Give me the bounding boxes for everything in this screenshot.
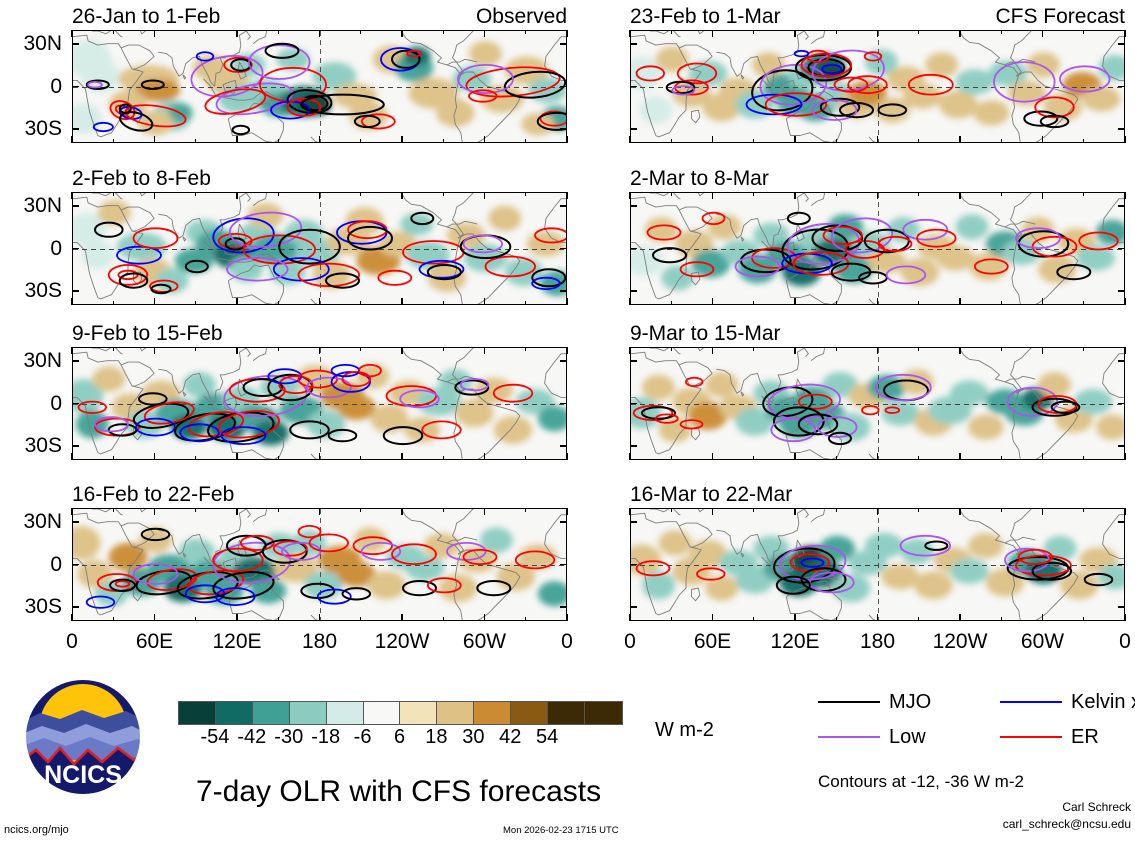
x-tick-minor xyxy=(1083,617,1084,621)
x-tick xyxy=(154,30,156,37)
ncics-logo-svg: NCICS xyxy=(22,676,144,798)
x-tick-minor xyxy=(918,456,919,460)
panel-title: 2-Mar to 8-Mar xyxy=(630,168,769,189)
x-tick-minor xyxy=(1083,30,1084,34)
x-tick-minor xyxy=(195,347,196,351)
x-tick xyxy=(959,453,961,460)
y-tick xyxy=(1118,86,1125,88)
x-tick-minor xyxy=(525,508,526,512)
x-tick-minor xyxy=(918,347,919,351)
column-header: CFS Forecast xyxy=(995,6,1125,27)
x-tick xyxy=(794,347,796,354)
y-tick xyxy=(630,86,637,88)
x-tick xyxy=(319,453,321,460)
x-tick-minor xyxy=(360,617,361,621)
x-tick xyxy=(877,614,879,621)
x-tick-minor xyxy=(278,508,279,512)
x-tick-minor xyxy=(918,30,919,34)
panel-fcst-1: 23-Feb to 1-MarCFS Forecast xyxy=(630,6,1125,143)
y-axis-label: 0 xyxy=(0,554,62,575)
legend-line-swatch xyxy=(1000,701,1062,703)
y-tick xyxy=(1118,360,1125,362)
x-tick xyxy=(794,192,796,199)
x-tick-minor xyxy=(113,301,114,305)
x-tick-minor xyxy=(360,301,361,305)
x-tick-minor xyxy=(113,508,114,512)
x-tick-minor xyxy=(836,192,837,196)
colorbar-tick-label: 54 xyxy=(517,727,577,747)
x-tick-minor xyxy=(836,30,837,34)
x-tick xyxy=(877,453,879,460)
x-tick-minor xyxy=(1001,347,1002,351)
y-tick xyxy=(72,564,79,566)
y-tick xyxy=(630,521,637,523)
x-tick-minor xyxy=(671,617,672,621)
x-tick-minor xyxy=(1001,456,1002,460)
x-tick xyxy=(629,614,631,621)
y-tick xyxy=(1118,403,1125,405)
x-tick xyxy=(1124,453,1126,460)
x-tick-minor xyxy=(836,456,837,460)
x-tick xyxy=(877,136,879,143)
x-tick xyxy=(1124,347,1126,354)
colorbar-segment xyxy=(548,702,585,724)
x-tick xyxy=(1042,614,1044,621)
x-tick-minor xyxy=(1083,456,1084,460)
map-plot xyxy=(72,508,567,621)
x-tick xyxy=(484,347,486,354)
legend-item-low: Low xyxy=(818,727,926,747)
x-tick xyxy=(484,136,486,143)
panel-obs-2: 2-Feb to 8-Feb xyxy=(72,168,567,305)
y-tick xyxy=(72,205,79,207)
x-tick xyxy=(1124,508,1126,515)
x-tick-minor xyxy=(360,139,361,143)
map-plot xyxy=(630,192,1125,305)
x-tick xyxy=(794,614,796,621)
y-tick xyxy=(1118,248,1125,250)
x-tick-minor xyxy=(195,139,196,143)
x-tick-minor xyxy=(671,192,672,196)
x-tick-minor xyxy=(836,617,837,621)
x-tick xyxy=(484,614,486,621)
x-tick xyxy=(629,192,631,199)
x-tick xyxy=(154,453,156,460)
x-tick xyxy=(794,30,796,37)
y-tick xyxy=(630,128,637,130)
x-tick xyxy=(1124,298,1126,305)
legend-line-swatch xyxy=(1000,736,1062,738)
y-tick xyxy=(72,128,79,130)
x-tick-minor xyxy=(525,30,526,34)
x-axis-label: 120W xyxy=(357,631,447,652)
y-tick xyxy=(72,43,79,45)
x-tick-minor xyxy=(443,508,444,512)
x-tick-minor xyxy=(753,617,754,621)
x-tick xyxy=(1124,136,1126,143)
y-tick xyxy=(560,86,567,88)
x-tick-minor xyxy=(525,192,526,196)
x-tick-minor xyxy=(278,30,279,34)
x-tick xyxy=(71,192,73,199)
x-tick-minor xyxy=(1083,139,1084,143)
x-tick xyxy=(236,614,238,621)
y-axis-label: 30S xyxy=(0,596,62,617)
x-tick xyxy=(794,453,796,460)
x-tick xyxy=(877,298,879,305)
x-tick-minor xyxy=(113,139,114,143)
x-tick-minor xyxy=(1083,347,1084,351)
x-tick xyxy=(154,298,156,305)
y-axis-label: 0 xyxy=(0,393,62,414)
x-tick xyxy=(401,347,403,354)
x-tick xyxy=(484,508,486,515)
x-tick-minor xyxy=(195,301,196,305)
colorbar xyxy=(178,701,623,725)
x-tick-minor xyxy=(113,192,114,196)
x-tick-minor xyxy=(443,30,444,34)
x-tick-minor xyxy=(918,617,919,621)
x-tick-minor xyxy=(1001,508,1002,512)
map-plot xyxy=(630,347,1125,460)
x-tick xyxy=(959,136,961,143)
legend-item-er: ER xyxy=(1000,727,1099,747)
legend-item-mjo: MJO xyxy=(818,692,931,712)
x-tick xyxy=(629,508,631,515)
x-tick-minor xyxy=(195,508,196,512)
x-tick xyxy=(712,453,714,460)
x-tick xyxy=(319,347,321,354)
x-tick xyxy=(319,298,321,305)
x-tick xyxy=(1042,192,1044,199)
panel-obs-4: 16-Feb to 22-Feb xyxy=(72,484,567,621)
x-tick xyxy=(401,192,403,199)
x-tick-minor xyxy=(278,301,279,305)
panel-fcst-4: 16-Mar to 22-Mar xyxy=(630,484,1125,621)
x-tick xyxy=(959,347,961,354)
x-tick-minor xyxy=(525,301,526,305)
x-tick xyxy=(629,136,631,143)
x-tick-minor xyxy=(195,456,196,460)
x-axis-label: 180 xyxy=(833,631,923,652)
x-tick xyxy=(401,30,403,37)
y-axis-label: 30S xyxy=(0,118,62,139)
x-tick-minor xyxy=(195,617,196,621)
x-tick-minor xyxy=(918,139,919,143)
y-axis-label: 0 xyxy=(0,76,62,97)
x-tick xyxy=(71,614,73,621)
x-tick xyxy=(71,136,73,143)
x-tick xyxy=(236,298,238,305)
x-tick xyxy=(484,298,486,305)
colorbar-segment xyxy=(253,702,290,724)
x-tick-minor xyxy=(443,301,444,305)
x-axis-label: 60E xyxy=(110,631,200,652)
y-tick xyxy=(72,290,79,292)
colorbar-segment xyxy=(400,702,437,724)
x-tick-minor xyxy=(360,30,361,34)
x-tick-minor xyxy=(1001,301,1002,305)
colorbar-segment xyxy=(437,702,474,724)
x-tick-minor xyxy=(671,508,672,512)
x-tick xyxy=(959,30,961,37)
x-tick xyxy=(629,30,631,37)
colorbar-segment xyxy=(511,702,548,724)
panel-title: 23-Feb to 1-Mar xyxy=(630,6,781,27)
map-plot xyxy=(72,192,567,305)
colorbar-segment xyxy=(585,702,622,724)
x-tick-minor xyxy=(360,347,361,351)
x-tick xyxy=(712,508,714,515)
colorbar-segment xyxy=(474,702,511,724)
x-tick-minor xyxy=(1083,301,1084,305)
y-tick xyxy=(560,205,567,207)
panel-title: 26-Jan to 1-Feb xyxy=(72,6,220,27)
legend-line-swatch xyxy=(818,701,880,703)
y-tick xyxy=(630,248,637,250)
x-tick xyxy=(236,30,238,37)
x-tick-minor xyxy=(671,347,672,351)
x-tick xyxy=(71,453,73,460)
x-tick-minor xyxy=(753,508,754,512)
x-tick xyxy=(712,347,714,354)
panel-title: 16-Feb to 22-Feb xyxy=(72,484,234,505)
x-tick xyxy=(401,136,403,143)
x-tick xyxy=(236,347,238,354)
legend-line-swatch xyxy=(818,736,880,738)
x-tick xyxy=(1042,298,1044,305)
x-tick-minor xyxy=(836,139,837,143)
x-tick-minor xyxy=(113,456,114,460)
y-axis-label: 30N xyxy=(0,511,62,532)
y-axis-label: 30S xyxy=(0,280,62,301)
x-tick xyxy=(794,136,796,143)
x-tick-minor xyxy=(195,192,196,196)
x-tick-minor xyxy=(525,617,526,621)
y-tick xyxy=(72,86,79,88)
x-tick xyxy=(566,136,568,143)
legend-label: ER xyxy=(1071,727,1099,747)
y-tick xyxy=(1118,128,1125,130)
x-tick-minor xyxy=(671,301,672,305)
y-tick xyxy=(630,445,637,447)
x-tick xyxy=(712,298,714,305)
x-tick xyxy=(319,508,321,515)
x-axis-label: 120E xyxy=(192,631,282,652)
panel-fcst-3: 9-Mar to 15-Mar xyxy=(630,323,1125,460)
x-tick-minor xyxy=(113,347,114,351)
x-tick-minor xyxy=(753,139,754,143)
main-title: 7-day OLR with CFS forecasts xyxy=(196,777,601,807)
x-tick-minor xyxy=(1083,192,1084,196)
y-tick xyxy=(630,564,637,566)
author-email[interactable]: carl_schreck@ncsu.edu xyxy=(1003,817,1131,832)
x-tick-minor xyxy=(753,456,754,460)
x-tick-minor xyxy=(443,347,444,351)
y-tick xyxy=(560,128,567,130)
x-tick-minor xyxy=(278,617,279,621)
x-tick xyxy=(959,508,961,515)
x-tick-minor xyxy=(443,617,444,621)
x-tick xyxy=(794,298,796,305)
y-tick xyxy=(72,403,79,405)
x-tick xyxy=(154,347,156,354)
panel-title: 16-Mar to 22-Mar xyxy=(630,484,792,505)
x-tick xyxy=(484,192,486,199)
y-tick xyxy=(630,205,637,207)
x-tick xyxy=(877,30,879,37)
y-tick xyxy=(72,360,79,362)
legend-item-kelvin-x2: Kelvin x2 xyxy=(1000,692,1135,712)
panel-title: 9-Feb to 15-Feb xyxy=(72,323,223,344)
y-tick xyxy=(1118,445,1125,447)
x-tick-minor xyxy=(753,30,754,34)
x-tick-minor xyxy=(113,617,114,621)
x-tick-minor xyxy=(836,347,837,351)
x-tick-minor xyxy=(1001,30,1002,34)
y-tick xyxy=(560,43,567,45)
y-tick xyxy=(1118,564,1125,566)
x-axis-label: 0 xyxy=(27,631,117,652)
y-tick xyxy=(72,606,79,608)
x-tick xyxy=(566,30,568,37)
x-tick xyxy=(566,508,568,515)
x-tick-minor xyxy=(753,347,754,351)
x-tick xyxy=(319,136,321,143)
y-tick xyxy=(1118,205,1125,207)
y-tick xyxy=(630,360,637,362)
map-plot xyxy=(72,347,567,460)
x-tick-minor xyxy=(443,139,444,143)
y-tick xyxy=(560,521,567,523)
x-axis-label: 120E xyxy=(750,631,840,652)
y-tick xyxy=(1118,43,1125,45)
x-tick xyxy=(401,614,403,621)
ncics-logo[interactable]: NCICS xyxy=(22,676,144,798)
x-tick-minor xyxy=(918,508,919,512)
x-tick-minor xyxy=(278,192,279,196)
x-tick xyxy=(712,614,714,621)
x-tick xyxy=(1124,614,1126,621)
panel-obs-1: 26-Jan to 1-FebObserved xyxy=(72,6,567,143)
x-tick xyxy=(154,614,156,621)
x-tick xyxy=(484,453,486,460)
x-tick-minor xyxy=(836,508,837,512)
x-tick xyxy=(401,453,403,460)
map-plot xyxy=(72,30,567,143)
y-tick xyxy=(560,564,567,566)
x-axis-label: 60E xyxy=(668,631,758,652)
x-tick xyxy=(566,298,568,305)
x-tick-minor xyxy=(753,192,754,196)
x-tick xyxy=(236,192,238,199)
x-tick-minor xyxy=(525,347,526,351)
x-tick xyxy=(566,347,568,354)
colorbar-segment xyxy=(364,702,401,724)
colorbar-segment xyxy=(290,702,327,724)
x-tick-minor xyxy=(671,139,672,143)
x-tick xyxy=(154,508,156,515)
y-axis-label: 30S xyxy=(0,435,62,456)
x-tick xyxy=(71,30,73,37)
x-tick xyxy=(629,298,631,305)
x-tick-minor xyxy=(113,30,114,34)
x-axis-label: 0 xyxy=(1080,631,1135,652)
x-tick xyxy=(236,453,238,460)
x-axis-label: 180 xyxy=(275,631,365,652)
x-axis-label: 120W xyxy=(915,631,1005,652)
x-tick xyxy=(712,192,714,199)
y-tick xyxy=(1118,290,1125,292)
x-tick-minor xyxy=(360,508,361,512)
x-tick-minor xyxy=(525,139,526,143)
x-tick xyxy=(1042,453,1044,460)
x-tick xyxy=(71,347,73,354)
olr-figure: 26-Jan to 1-FebObserved2-Feb to 8-Feb9-F… xyxy=(0,0,1135,844)
panel-title: 9-Mar to 15-Mar xyxy=(630,323,781,344)
x-tick xyxy=(712,30,714,37)
x-tick xyxy=(401,298,403,305)
contours-note: Contours at -12, -36 W m-2 xyxy=(818,773,1024,790)
x-tick xyxy=(1124,192,1126,199)
x-tick-minor xyxy=(443,456,444,460)
x-tick xyxy=(959,614,961,621)
legend-label: Low xyxy=(889,727,926,747)
y-tick xyxy=(560,403,567,405)
x-tick xyxy=(794,508,796,515)
x-tick xyxy=(154,136,156,143)
x-tick xyxy=(1124,30,1126,37)
y-axis-label: 30N xyxy=(0,33,62,54)
x-tick-minor xyxy=(918,192,919,196)
y-axis-label: 30N xyxy=(0,350,62,371)
legend-label: MJO xyxy=(889,692,931,712)
x-tick xyxy=(71,298,73,305)
logo-text: NCICS xyxy=(44,761,122,789)
x-tick-minor xyxy=(753,301,754,305)
x-tick xyxy=(712,136,714,143)
colorbar-segment xyxy=(179,702,216,724)
x-tick-minor xyxy=(1001,139,1002,143)
y-tick xyxy=(72,248,79,250)
y-tick xyxy=(630,403,637,405)
x-tick-minor xyxy=(360,192,361,196)
panel-obs-3: 9-Feb to 15-Feb xyxy=(72,323,567,460)
map-plot xyxy=(630,30,1125,143)
x-tick xyxy=(1042,508,1044,515)
x-axis-label: 60W xyxy=(998,631,1088,652)
y-tick xyxy=(560,290,567,292)
y-tick xyxy=(72,521,79,523)
panel-fcst-2: 2-Mar to 8-Mar xyxy=(630,168,1125,305)
map-plot xyxy=(630,508,1125,621)
x-axis-label: 0 xyxy=(585,631,675,652)
x-tick xyxy=(319,192,321,199)
x-tick xyxy=(401,508,403,515)
site-url[interactable]: ncics.org/mjo xyxy=(4,824,69,836)
x-tick xyxy=(877,347,879,354)
x-tick xyxy=(566,192,568,199)
x-tick-minor xyxy=(1001,617,1002,621)
y-tick xyxy=(560,360,567,362)
x-tick-minor xyxy=(443,192,444,196)
x-tick xyxy=(1042,136,1044,143)
colorbar-segment xyxy=(216,702,253,724)
x-tick-minor xyxy=(195,30,196,34)
x-tick xyxy=(959,298,961,305)
author-name: Carl Schreck xyxy=(1062,800,1131,815)
x-tick xyxy=(629,347,631,354)
